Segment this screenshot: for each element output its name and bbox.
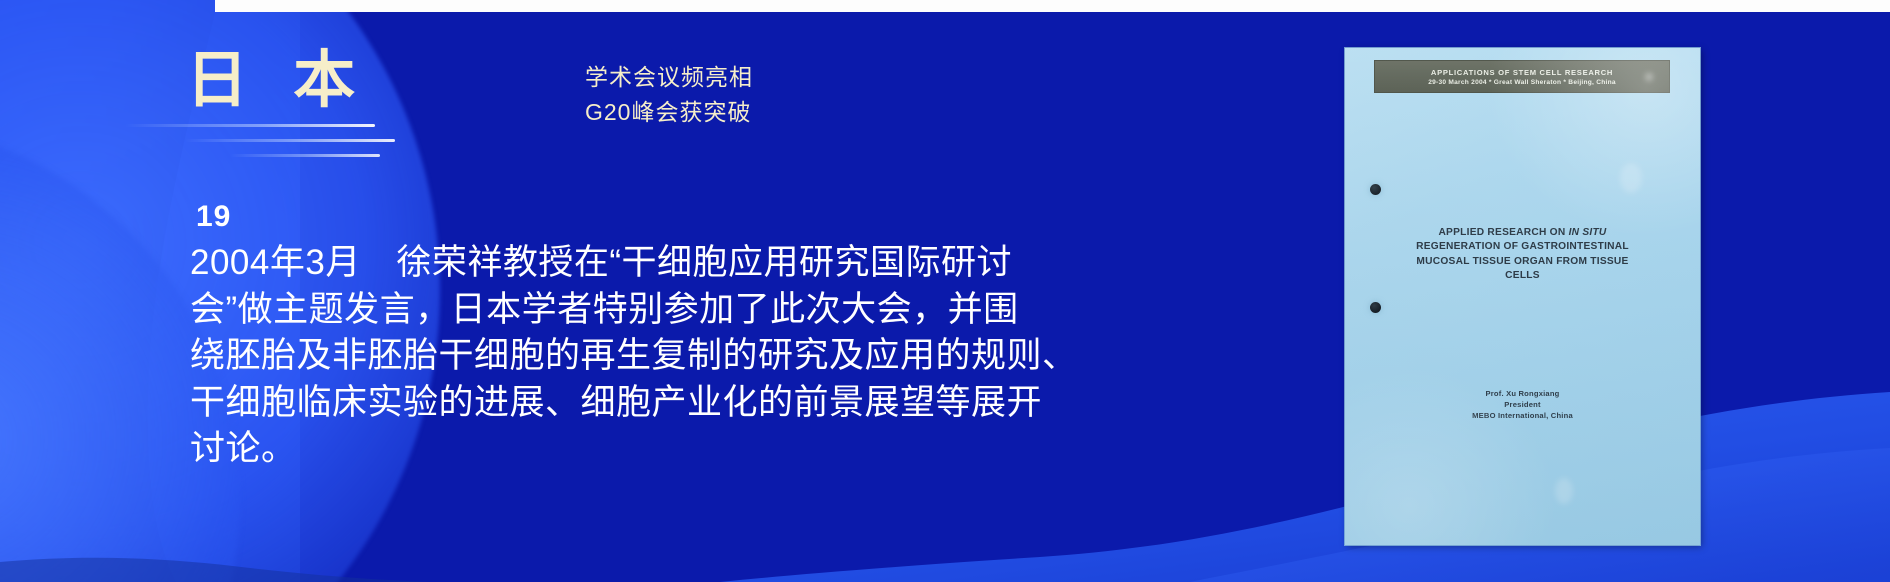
paper-sheen-overlay [1345,48,1700,545]
body-line-1: 2004年3月 徐荣祥教授在“干细胞应用研究国际研讨 [190,240,1130,287]
paper-smudge [1645,73,1653,81]
paper-title-line-4: CELLS [1359,269,1686,283]
body-text-block: 2004年3月 徐荣祥教授在“干细胞应用研究国际研讨 会”做主题发言，日本学者特… [190,240,1130,473]
paper-banner-title: APPLICATIONS OF STEM CELL RESEARCH [1431,68,1613,77]
subtitle-block: 学术会议频亮相 G20峰会获突破 [585,60,753,129]
paper-footer-block: Prof. Xu Rongxiang President MEBO Intern… [1359,388,1686,422]
body-line-2: 会”做主题发言，日本学者特别参加了此次大会，并围 [190,287,1130,334]
slide-top-white-strip [215,0,1890,12]
hole-punch-icon [1370,184,1381,195]
paper-smudge [1555,478,1573,504]
hole-punch-icon [1370,302,1381,313]
item-number: 19 [196,200,231,234]
body-line-4: 干细胞临床实验的进展、细胞产业化的前景展望等展开 [190,380,1130,427]
conference-paper-photo: APPLICATIONS OF STEM CELL RESEARCH 29-30… [1345,48,1700,545]
slide: 日 本 学术会议频亮相 G20峰会获突破 19 2004年3月 徐荣祥教授在“干… [0,0,1890,582]
subtitle-line-1: 学术会议频亮相 [585,60,753,95]
subtitle-line-2: G20峰会获突破 [585,95,753,130]
paper-title-line-2: REGENERATION OF GASTROINTESTINAL [1359,240,1686,254]
paper-title-line-1-prefix: APPLIED RESEARCH ON [1438,227,1568,238]
title-decorative-lines [95,122,435,162]
decorative-line-3 [230,154,380,157]
decorative-line-1 [125,124,375,127]
decorative-line-2 [185,139,395,142]
paper-title-line-3: MUCOSAL TISSUE ORGAN FROM TISSUE [1359,255,1686,269]
body-line-3: 绕胚胎及非胚胎干细胞的再生复制的研究及应用的规则、 [190,333,1130,380]
page-title: 日 本 [186,48,369,113]
paper-title-block: APPLIED RESEARCH ON IN SITU REGENERATION… [1359,226,1686,284]
body-line-5: 讨论。 [190,426,1130,473]
paper-author-role: President [1359,399,1686,410]
paper-banner-subtitle: 29-30 March 2004 * Great Wall Sheraton *… [1428,79,1616,86]
paper-author-org: MEBO International, China [1359,410,1686,421]
paper-smudge [1620,163,1642,193]
paper-header-banner: APPLICATIONS OF STEM CELL RESEARCH 29-30… [1374,60,1670,93]
paper-title-line-1: APPLIED RESEARCH ON IN SITU [1359,226,1686,240]
paper-title-line-1-italic: IN SITU [1569,227,1607,238]
paper-author-name: Prof. Xu Rongxiang [1359,388,1686,399]
